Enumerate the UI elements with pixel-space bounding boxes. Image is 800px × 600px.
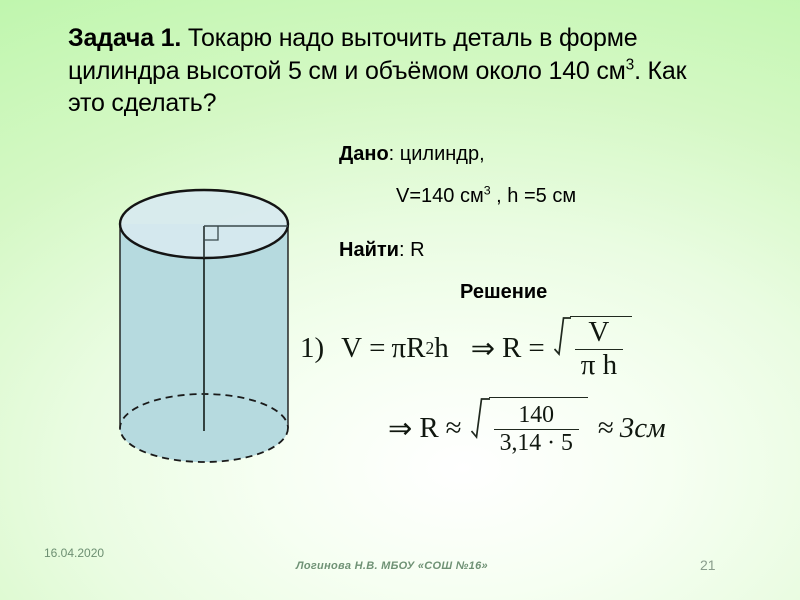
task-text-line2a: цилиндра высотой 5 см и объёмом около 14… (68, 57, 626, 85)
formula1-fraction-denominator: π h (575, 349, 623, 381)
formula1-volume-symbol: V (341, 332, 362, 365)
volume-value: V=140 см (396, 185, 484, 207)
formula-line-2: ⇒ R ≈ 140 3,14 · 5 ≈ 3см (382, 397, 666, 459)
formula2-fraction-denominator: 3,14 · 5 (494, 429, 579, 455)
formula1-fraction: V π h (575, 318, 623, 380)
formula1-radicand: V π h (570, 316, 632, 380)
given-value: : цилиндр, (389, 143, 485, 165)
formula2-approx-1: ≈ (446, 412, 462, 445)
formula1-den-pi: π (581, 349, 596, 381)
formula1-pi-symbol: π (391, 332, 406, 365)
footer-date: 16.04.2020 (44, 546, 104, 560)
given-values: V=140 см3 , h =5 см (396, 185, 576, 208)
given-line: Дано: цилиндр, (339, 143, 485, 166)
formula2-square-root: 140 3,14 · 5 (471, 397, 588, 459)
cylinder-figure (112, 178, 304, 474)
page-title: Задача 1. Токарю надо выточить деталь в … (68, 22, 780, 120)
slide-canvas: Задача 1. Токарю надо выточить деталь в … (0, 0, 800, 600)
formula1-rhs-radius-symbol: R (502, 332, 521, 365)
cubic-exponent: 3 (626, 56, 634, 73)
formula1-height-symbol: h (434, 332, 449, 365)
formula1-square-root: V π h (554, 316, 632, 380)
formula2-implies-arrow-icon: ⇒ (388, 411, 412, 446)
volume-exponent: 3 (484, 183, 491, 197)
formula1-radius-symbol: R (406, 332, 425, 365)
given-label: Дано (339, 143, 389, 165)
find-line: Найти: R (339, 239, 425, 262)
page-number: 21 (700, 557, 716, 573)
formula1-equals: = (369, 332, 385, 365)
footer-credit: Логинова Н.В. МБОУ «СОШ №16» (296, 560, 488, 572)
formula2-radicand: 140 3,14 · 5 (489, 397, 588, 459)
formula-line-1: 1) V = πR2h ⇒ R = V π h (300, 316, 632, 380)
formula1-fraction-numerator: V (582, 318, 615, 349)
height-value: , h =5 см (491, 185, 576, 207)
formula-step-number: 1) (300, 332, 324, 365)
task-text-line3: это сделать? (68, 89, 216, 117)
formula1-den-h: h (603, 349, 618, 381)
formula2-result: 3см (620, 412, 666, 445)
formula2-radius-symbol: R (419, 412, 438, 445)
radical-sign-icon-2 (471, 397, 490, 459)
formula2-fraction-numerator: 140 (512, 403, 560, 428)
formula2-fraction: 140 3,14 · 5 (494, 403, 579, 455)
find-label: Найти (339, 239, 399, 261)
task-label: Задача 1. (68, 24, 181, 52)
solution-heading: Решение (460, 281, 547, 304)
formula1-rhs-equals: = (528, 332, 544, 365)
formula1-implies-arrow-icon: ⇒ (471, 331, 495, 366)
find-value: : R (399, 239, 425, 261)
cylinder-svg (112, 178, 304, 474)
formula2-approx-2: ≈ (598, 412, 614, 445)
task-text-line2b: . Как (634, 57, 686, 85)
task-text-line1: Токарю надо выточить деталь в форме (181, 24, 637, 52)
radical-sign-icon (554, 316, 571, 376)
